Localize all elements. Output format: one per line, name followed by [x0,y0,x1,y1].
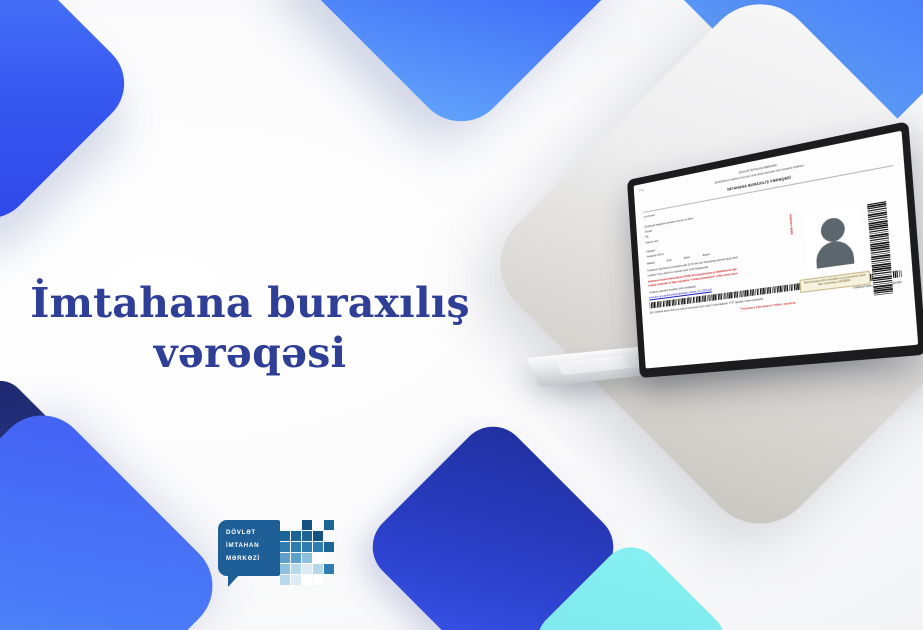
logo-pixel [302,575,312,585]
doc-column: Məktəb [647,262,655,267]
logo-pixel [280,553,290,563]
logo-line-2: İMTAHAN [226,539,278,552]
logo-pixel [324,542,334,552]
logo-pixel [324,520,334,530]
logo-pixel [291,575,301,585]
logo-pixel [291,542,301,552]
person-avatar-icon [820,216,846,243]
page-title: İmtahana buraxılış vərəqəsi [24,278,476,379]
logo-pixel [291,564,301,574]
person-avatar-body-icon [815,238,854,268]
doc-photo [803,205,864,276]
logo-pixel [280,542,290,552]
doc-column: Rayon [703,253,711,258]
logo-pixel [280,575,290,585]
logo-pixel [280,531,290,541]
logo-pixel [313,564,323,574]
logo-pixel [324,564,334,574]
laptop-mockup: F-01 DÖVLƏT İMTAHAN MƏRKƏZİ 2023/2024-cü… [520,178,920,438]
logo-pixel [280,564,290,574]
logo-pixel [302,531,312,541]
logo-pixel [313,531,323,541]
decorative-square-top-middle [276,0,647,140]
dim-logo: DÖVLƏT İMTAHAN MƏRKƏZİ [218,516,338,592]
doc-column: Sinif [667,259,672,264]
logo-pixel [291,553,301,563]
page-title-line-1: İmtahana buraxılış [30,279,470,327]
logo-pixel [313,575,323,585]
logo-pixel [291,531,301,541]
doc-photo-side-label: Şəkilin sərhədləri [790,213,795,234]
logo-pixel [302,520,312,530]
logo-pixel [302,553,312,563]
laptop-trackpad [556,356,630,375]
logo-pixel [313,553,323,563]
logo-line-3: MƏRKƏZİ [226,552,278,565]
decorative-square-bottom-left [0,396,232,630]
decorative-square-top-left [0,0,142,236]
logo-pixel [313,542,323,552]
logo-pixel [302,542,312,552]
doc-column: Şəhər [683,256,690,261]
logo-pixel [302,564,312,574]
logo-line-1: DÖVLƏT [226,526,278,539]
doc-photo-block: Şəkilin sərhədləri Şəkil nümayiş edilir,… [788,201,894,318]
logo-pixel-grid-icon [280,516,338,584]
logo-text: DÖVLƏT İMTAHAN MƏRKƏZİ [226,526,278,565]
page-title-line-2: vərəqəsi [24,328,476,378]
banner-canvas: İmtahana buraxılış vərəqəsi DÖVLƏT İMTAH… [0,0,923,630]
